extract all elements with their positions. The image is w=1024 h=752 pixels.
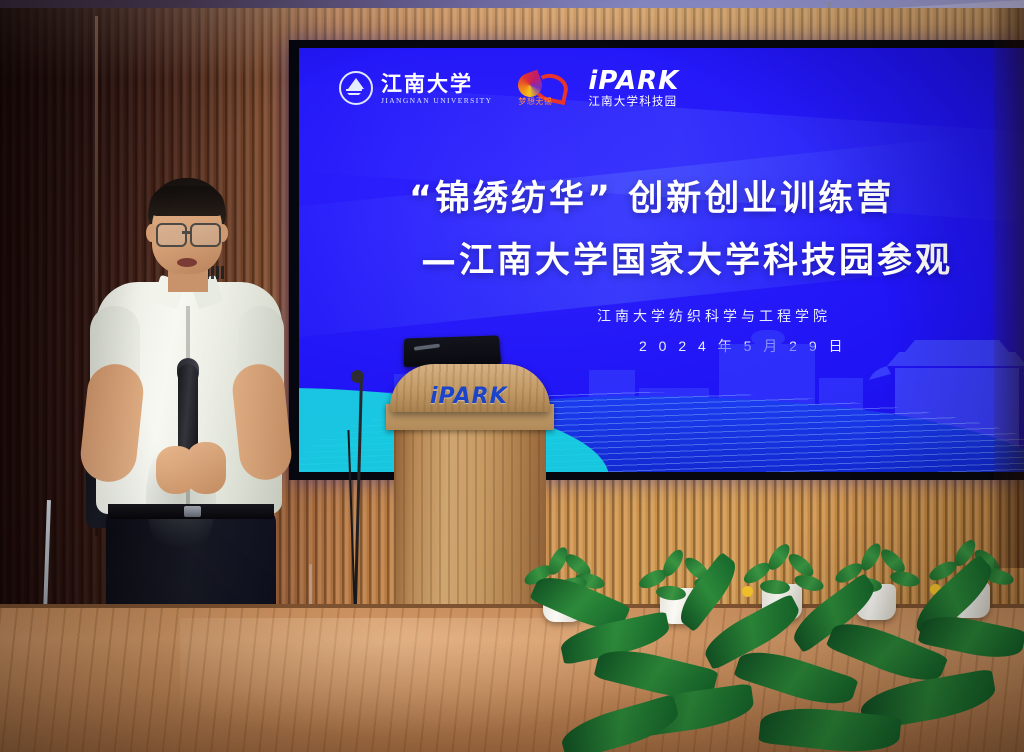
belt-buckle [184, 506, 201, 517]
plant-flower [742, 586, 753, 597]
ipark-logo-main: iPARK [588, 68, 679, 94]
glasses-bridge [182, 231, 192, 234]
screen-title-line1: “锦绣纺华” 创新创业训练营 [409, 170, 894, 221]
speaker-mouth [177, 258, 197, 267]
plant-foliage [832, 544, 924, 614]
right-wall-shadow [994, 8, 1024, 568]
laptop[interactable] [404, 335, 501, 367]
laptop-screen-gleam [414, 344, 440, 351]
jiangnan-emblem-icon [339, 71, 373, 105]
photo-scene: 江南大学 JIANGNAN UNIVERSITY 梦想无锡 iPARK 江南大学… [0, 0, 1024, 752]
floor-light-reflection [180, 618, 700, 738]
ipark-logo: iPARK 江南大学科技园 [588, 68, 679, 109]
plant-flower [930, 584, 941, 595]
glasses-lens-left [156, 223, 187, 247]
jiangnan-logo-en: JIANGNAN UNIVERSITY [381, 97, 492, 105]
speaker-hand-right [186, 442, 226, 494]
speaker-hair-fringe [149, 186, 225, 216]
jiangnan-logo-text: 江南大学 JIANGNAN UNIVERSITY [381, 73, 492, 105]
wuxi-city-logo: 梦想无锡 [518, 71, 562, 105]
plant-foliage [636, 550, 728, 620]
plant-foliage [738, 546, 830, 616]
jiangnan-logo-cn: 江南大学 [381, 73, 492, 94]
screen-logo-row: 江南大学 JIANGNAN UNIVERSITY 梦想无锡 iPARK 江南大学… [339, 68, 679, 109]
jiangnan-university-logo: 江南大学 JIANGNAN UNIVERSITY [339, 71, 492, 105]
wuxi-logo-cn: 梦想无锡 [518, 96, 552, 107]
screen-title-line2: —江南大学国家大学科技园参观 [421, 232, 953, 283]
podium-ipark-label: iPARK [430, 384, 508, 409]
glasses-lens-right [190, 223, 221, 247]
plant-foliage [519, 548, 611, 618]
ipark-logo-cn: 江南大学科技园 [588, 97, 679, 109]
stage-floor [0, 608, 1024, 752]
